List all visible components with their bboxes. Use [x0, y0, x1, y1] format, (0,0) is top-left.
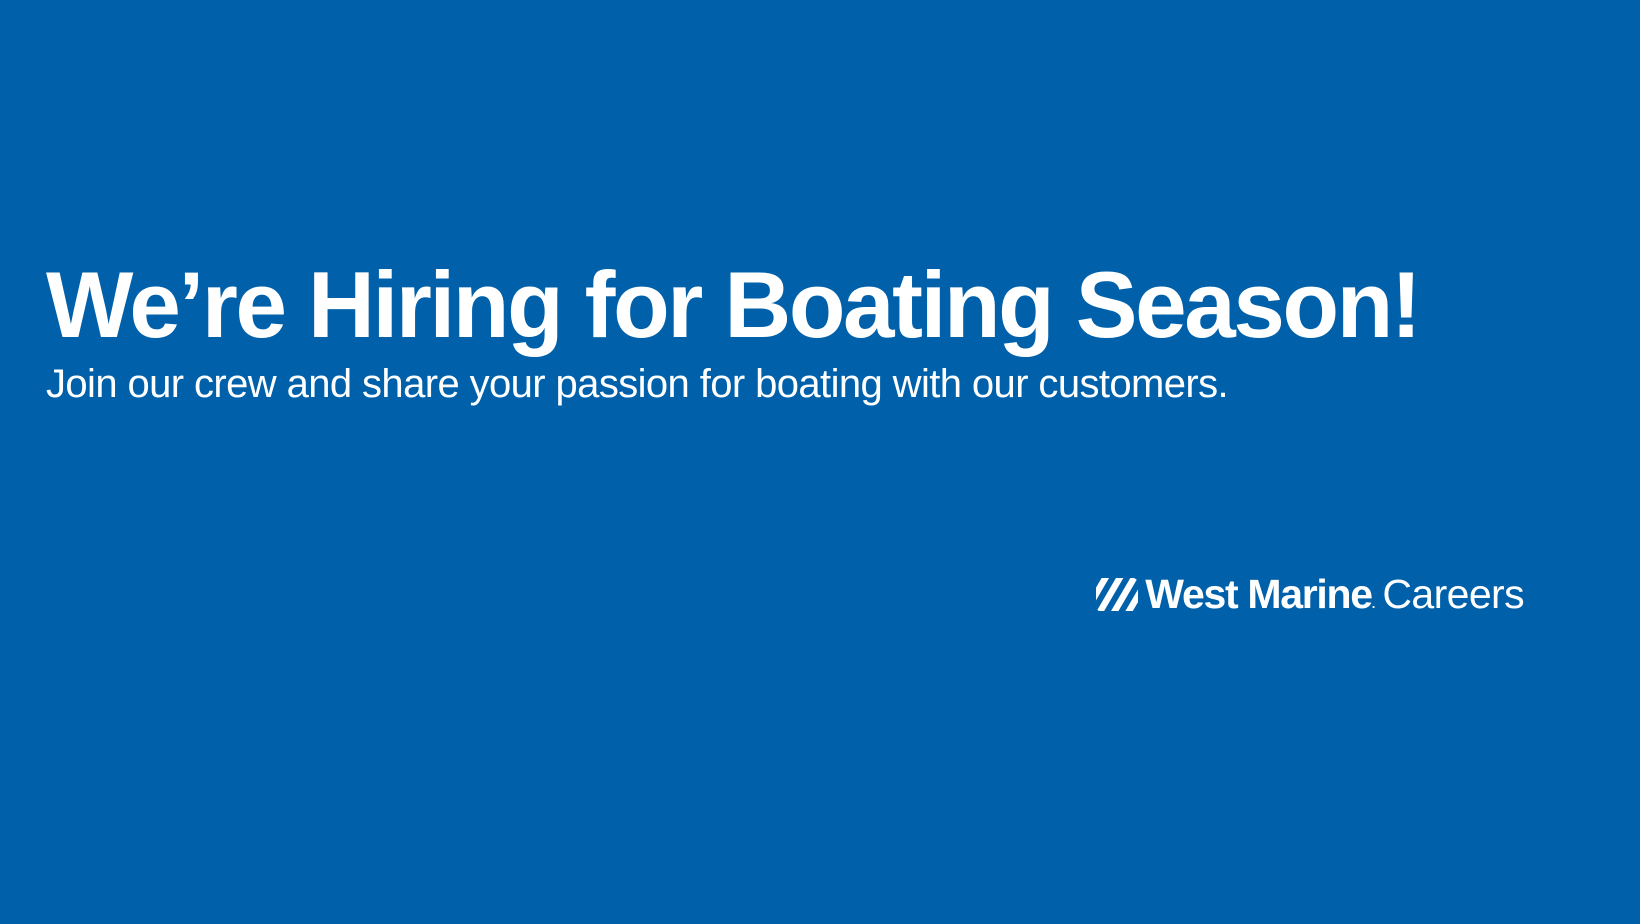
logo-brand-text: West Marine [1145, 574, 1371, 615]
logo-registered-icon: . [1372, 597, 1383, 610]
banner-subheadline: Join our crew and share your passion for… [46, 352, 1526, 407]
logo-product-text: Careers [1382, 574, 1524, 615]
careers-hiring-banner: We’re Hiring for Boating Season! Join ou… [0, 0, 1640, 924]
west-marine-diagonal-stripes-mark [1096, 578, 1138, 611]
logo-wordmark: West Marine . Careers [1145, 574, 1524, 615]
west-marine-careers-logo[interactable]: West Marine . Careers [1096, 572, 1524, 616]
page-title: We’re Hiring for Boating Season! [46, 258, 1504, 352]
banner-text-block: We’re Hiring for Boating Season! Join ou… [46, 258, 1526, 407]
